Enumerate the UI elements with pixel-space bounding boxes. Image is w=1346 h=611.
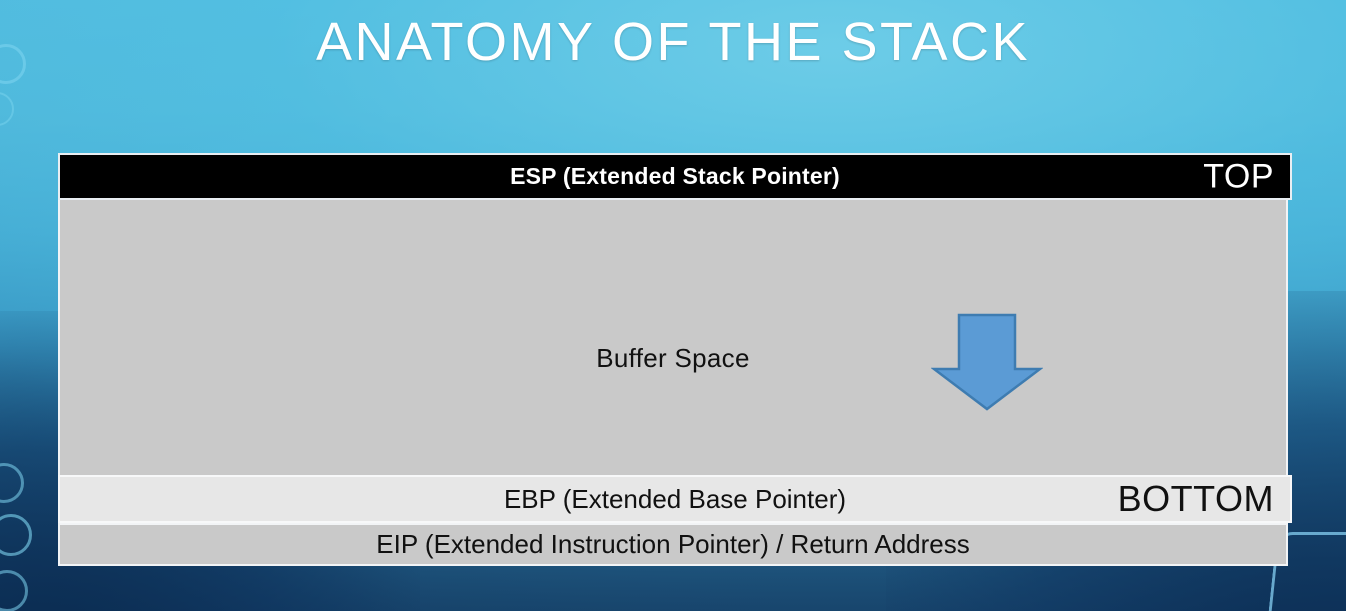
stack-row-buffer-label: Buffer Space <box>596 343 749 374</box>
stack-diagram: ESP (Extended Stack Pointer) TOP Buffer … <box>56 153 1292 566</box>
stack-row-esp-label: ESP (Extended Stack Pointer) <box>510 163 840 190</box>
stack-top-marker-label: TOP <box>1203 157 1274 196</box>
stack-row-buffer: Buffer Space <box>58 200 1288 475</box>
stack-row-eip: EIP (Extended Instruction Pointer) / Ret… <box>58 523 1288 566</box>
slide-canvas: ANATOMY OF THE STACK ESP (Extended Stack… <box>0 0 1346 611</box>
stack-row-esp: ESP (Extended Stack Pointer) TOP <box>58 153 1292 200</box>
stack-row-ebp-label: EBP (Extended Base Pointer) <box>504 484 846 515</box>
page-title: ANATOMY OF THE STACK <box>0 10 1346 74</box>
stack-bottom-marker-label: BOTTOM <box>1118 478 1274 520</box>
arrow-down-icon <box>931 312 1043 412</box>
stack-row-ebp: EBP (Extended Base Pointer) BOTTOM <box>58 475 1292 523</box>
growth-direction-arrow <box>931 312 1043 412</box>
stack-row-eip-label: EIP (Extended Instruction Pointer) / Ret… <box>376 529 970 560</box>
